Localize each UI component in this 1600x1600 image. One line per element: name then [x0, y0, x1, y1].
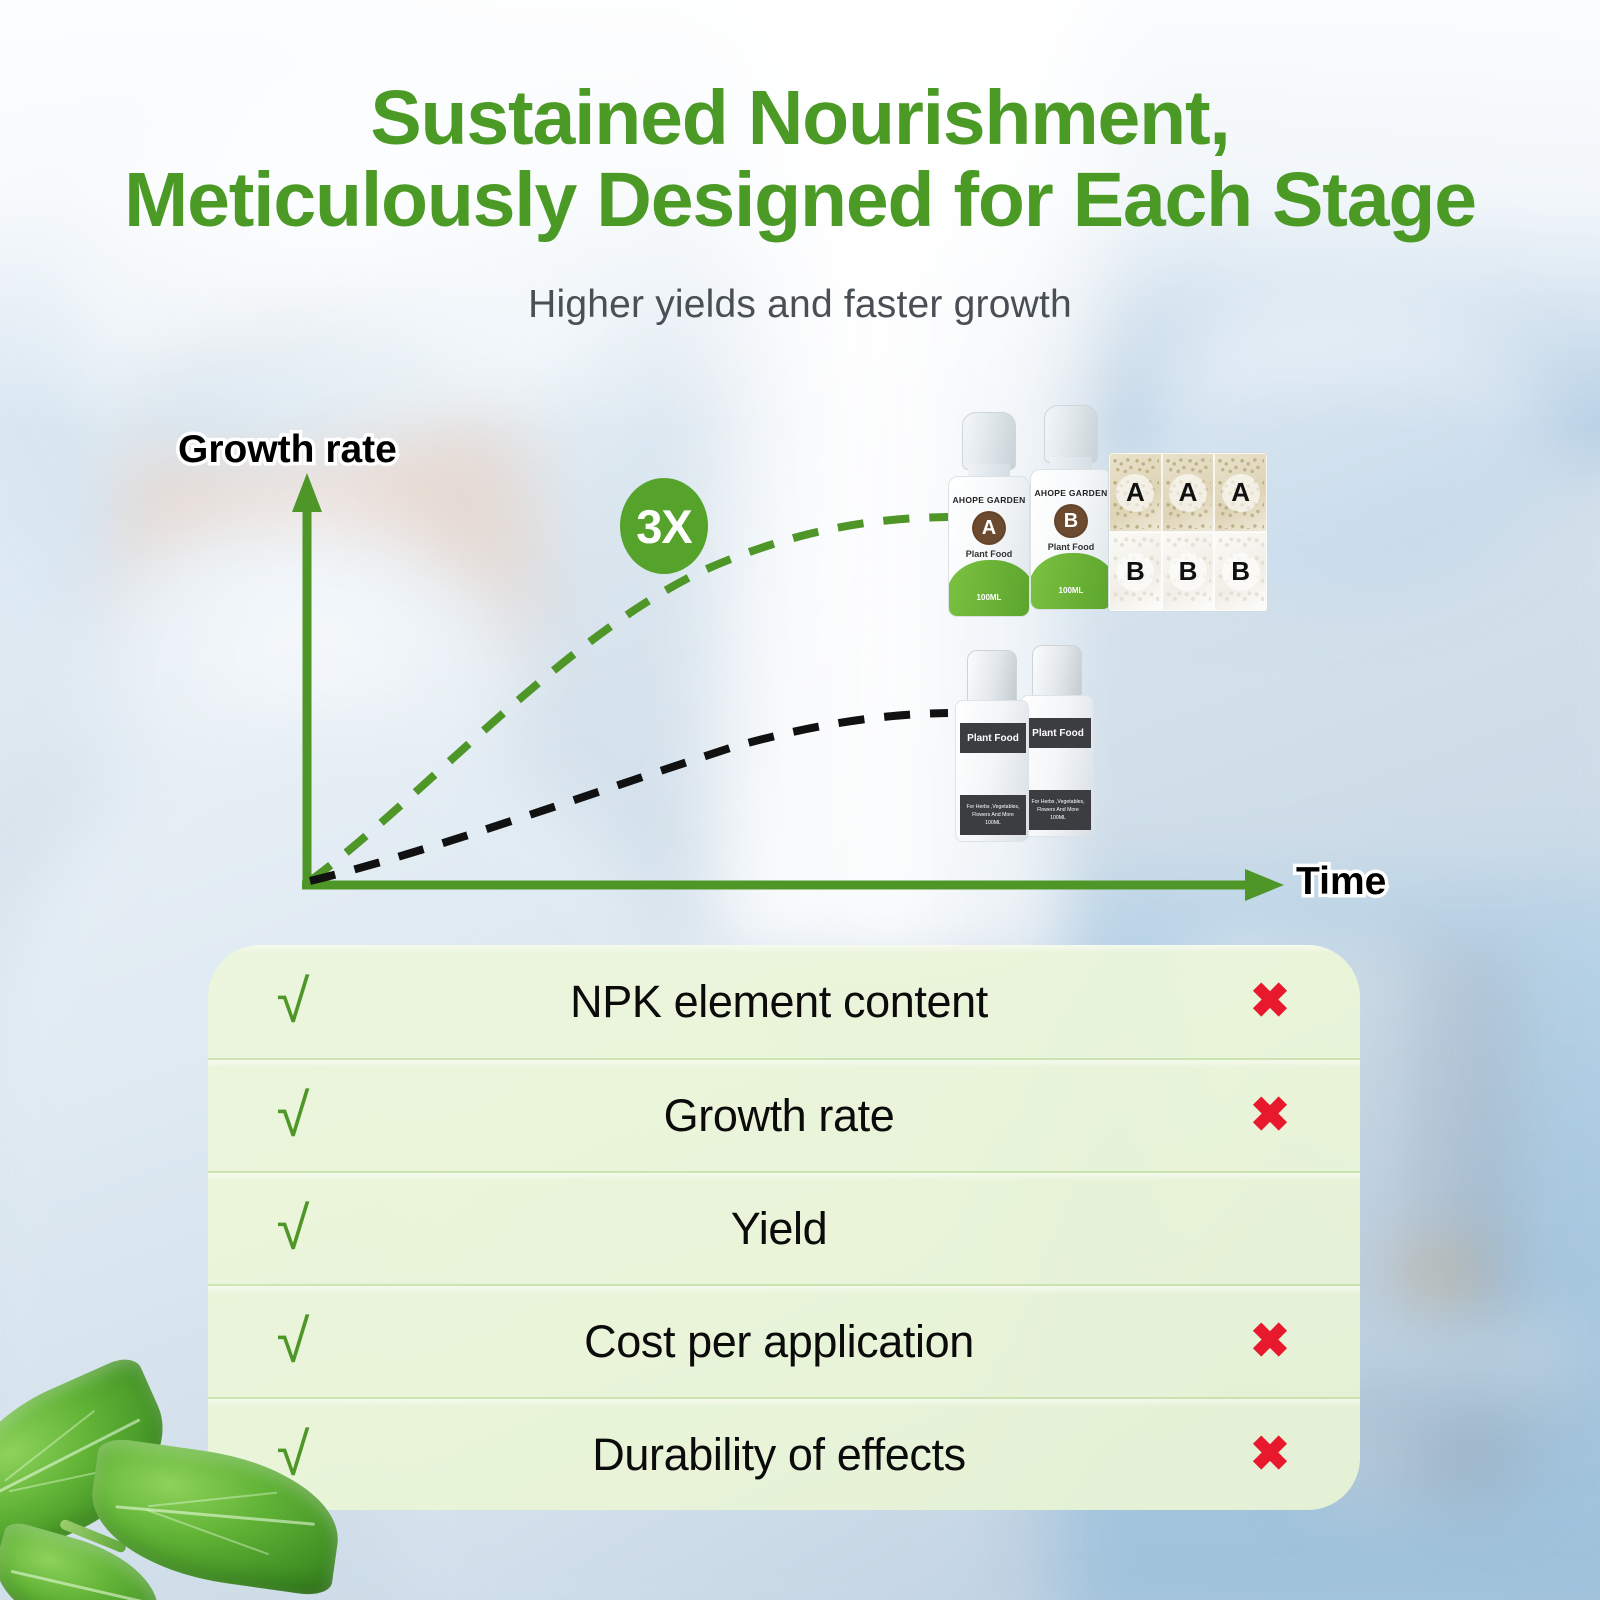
product-generic-bottle-1: Plant Food For Herbs ,Vegetables, Flower… — [955, 650, 1029, 842]
sachet-a-1-label: A — [1116, 474, 1154, 512]
sachet-b-2: B — [1162, 532, 1215, 611]
product-sachet-sheet: A A A B B B — [1108, 452, 1268, 612]
generic-bottle-2-line2: Flowers And More — [1037, 806, 1079, 814]
page-subtitle: Higher yields and faster growth — [0, 283, 1600, 327]
check-icon: √ — [208, 972, 378, 1032]
bottle-a-cap — [962, 412, 1016, 470]
bottle-b-body: AHOPE GARDEN B Plant Food 100ML — [1030, 469, 1112, 610]
generic-bottle-2-cap — [1032, 645, 1082, 699]
multiplier-badge: 3X — [620, 478, 708, 574]
product-bottle-a: AHOPE GARDEN A Plant Food 100ML — [948, 412, 1030, 617]
bottle-b-type: Plant Food — [1031, 542, 1111, 552]
leaf-vein — [5, 1410, 96, 1482]
bottle-b-volume: 100ML — [1031, 586, 1111, 595]
page-title: Sustained Nourishment, Meticulously Desi… — [0, 78, 1600, 241]
leaf-vein — [148, 1492, 277, 1507]
bottle-a-type: Plant Food — [949, 549, 1029, 559]
bottle-a-brand: AHOPE GARDEN — [949, 495, 1029, 505]
sachet-b-2-label: B — [1169, 553, 1207, 591]
chart-y-axis-label: Growth rate — [178, 428, 397, 472]
cross-icon: ✖ — [1180, 1318, 1360, 1366]
sachet-b-1: B — [1109, 532, 1162, 611]
headline-line-1: Sustained Nourishment, — [0, 78, 1600, 160]
sachet-a-1: A — [1109, 453, 1162, 532]
bottle-a-volume: 100ML — [949, 593, 1029, 602]
generic-bottle-2-line1: For Herbs ,Vegetables, — [1031, 798, 1084, 806]
chart-x-axis-label-text: Time — [1296, 860, 1386, 903]
bottle-b-green-band — [1030, 553, 1112, 609]
headline-line-2: Meticulously Designed for Each Stage — [0, 160, 1600, 242]
cross-icon: ✖ — [1180, 978, 1360, 1026]
sachet-a-3-label: A — [1222, 474, 1260, 512]
bottle-b-seal-icon: B — [1054, 504, 1088, 538]
product-generic-bottle-2: Plant Food For Herbs ,Vegetables, Flower… — [1020, 645, 1094, 837]
feature-label: Durability of effects — [378, 1429, 1180, 1481]
bottle-a-seal-icon: A — [972, 511, 1006, 545]
sachet-a-3: A — [1214, 453, 1267, 532]
sachet-a-2: A — [1162, 453, 1215, 532]
sachet-a-2-label: A — [1169, 474, 1207, 512]
sachet-b-3: B — [1214, 532, 1267, 611]
chart-x-axis-label: Time — [1296, 860, 1386, 904]
generic-bottle-1-body: Plant Food For Herbs ,Vegetables, Flower… — [955, 700, 1029, 842]
table-row: √ NPK element content ✖ — [208, 945, 1360, 1058]
generic-bottle-2-footer: For Herbs ,Vegetables, Flowers And More … — [1025, 790, 1091, 830]
product-bottle-b: AHOPE GARDEN B Plant Food 100ML — [1030, 405, 1112, 610]
feature-label: NPK element content — [378, 976, 1180, 1028]
multiplier-badge-text: 3X — [636, 499, 692, 554]
generic-bottle-1-title: Plant Food — [960, 723, 1026, 753]
table-row: √ Yield — [208, 1171, 1360, 1284]
generic-bottle-2-title: Plant Food — [1025, 718, 1091, 748]
generic-bottle-1-line2: Flowers And More — [972, 811, 1014, 819]
table-row: √ Growth rate ✖ — [208, 1058, 1360, 1171]
bottle-b-cap — [1044, 405, 1098, 463]
generic-bottle-2-body: Plant Food For Herbs ,Vegetables, Flower… — [1020, 695, 1094, 837]
bottle-b-brand: AHOPE GARDEN — [1031, 488, 1111, 498]
leaf-vein — [115, 1506, 314, 1526]
generic-bottle-2-volume: 100ML — [1050, 814, 1066, 822]
chart-y-axis-label-text: Growth rate — [178, 428, 397, 471]
generic-bottle-1-line1: For Herbs ,Vegetables, — [966, 803, 1019, 811]
bottle-a-green-band — [948, 560, 1030, 616]
check-icon: √ — [208, 1199, 378, 1259]
cross-icon: ✖ — [1180, 1092, 1360, 1140]
background-microscope-light — [1405, 1250, 1475, 1300]
bottle-a-body: AHOPE GARDEN A Plant Food 100ML — [948, 476, 1030, 617]
cross-icon: ✖ — [1180, 1431, 1360, 1479]
feature-label: Growth rate — [378, 1090, 1180, 1142]
check-icon: √ — [208, 1086, 378, 1146]
feature-label: Yield — [378, 1203, 1180, 1255]
leaf-vein — [11, 1570, 144, 1600]
sachet-b-3-label: B — [1222, 553, 1260, 591]
feature-label: Cost per application — [378, 1316, 1180, 1368]
generic-bottle-1-volume: 100ML — [985, 819, 1001, 827]
generic-bottle-1-footer: For Herbs ,Vegetables, Flowers And More … — [960, 795, 1026, 835]
sachet-b-1-label: B — [1116, 553, 1154, 591]
generic-bottle-1-cap — [967, 650, 1017, 704]
basil-leaves-decoration — [0, 1345, 400, 1600]
